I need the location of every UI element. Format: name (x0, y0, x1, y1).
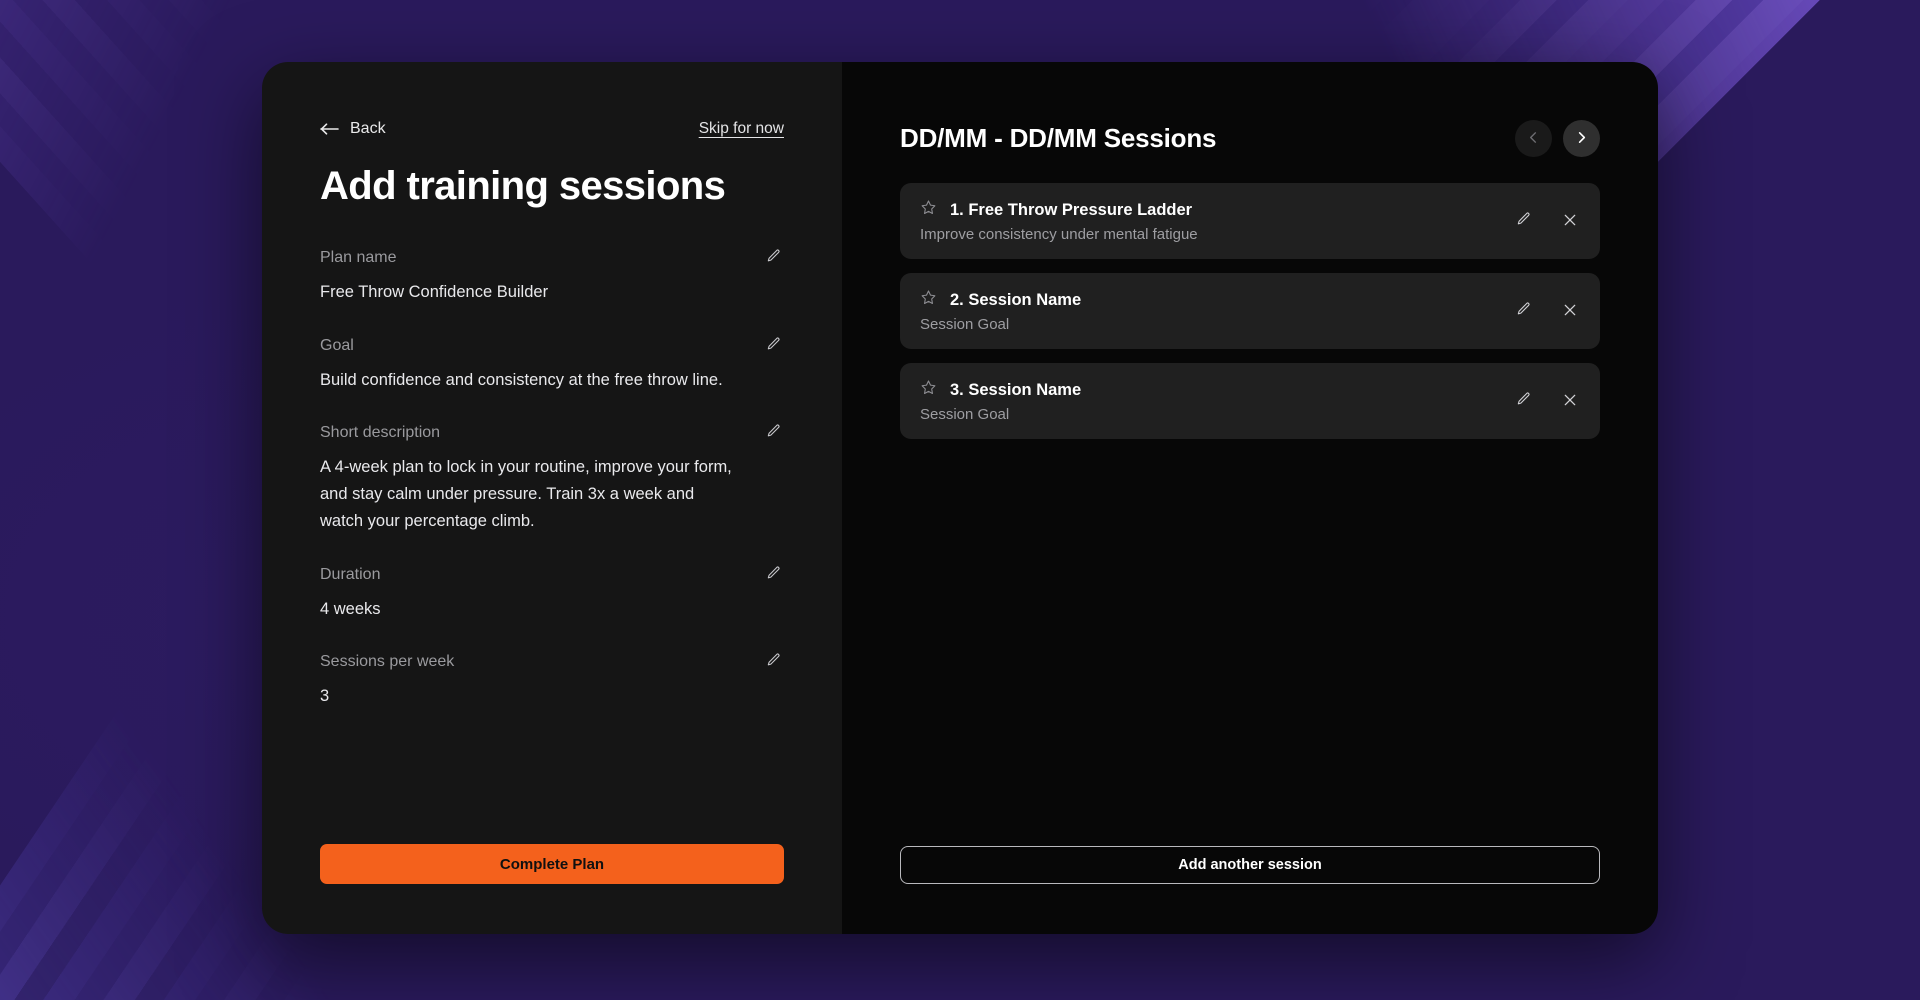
session-card-content: 3. Session Name Session Goal (920, 379, 1081, 423)
field-header: Goal (320, 334, 784, 358)
sessions-title: DD/MM - DD/MM Sessions (900, 123, 1216, 154)
close-icon (1562, 302, 1578, 321)
star-icon[interactable] (920, 199, 937, 221)
session-card-title: 1. Free Throw Pressure Ladder (950, 201, 1192, 220)
back-button[interactable]: Back (320, 120, 386, 138)
back-button-label: Back (350, 120, 386, 138)
sessions-footer: Add another session (900, 846, 1600, 934)
week-navigation (1515, 120, 1600, 157)
edit-short-description-button[interactable] (763, 421, 784, 445)
arrow-left-icon (320, 122, 340, 136)
field-label: Sessions per week (320, 653, 454, 671)
field-header: Duration (320, 563, 784, 587)
field-short-description: Short description A 4-week plan to lock … (320, 421, 784, 534)
pencil-icon (1515, 211, 1532, 231)
field-duration: Duration 4 weeks (320, 563, 784, 623)
field-header: Sessions per week (320, 650, 784, 674)
pencil-icon (765, 248, 782, 268)
pencil-icon (765, 652, 782, 672)
session-card-title-row: 3. Session Name (920, 379, 1081, 401)
plan-builder-modal: Back Skip for now Add training sessions … (262, 62, 1658, 934)
edit-session-button[interactable] (1513, 389, 1534, 413)
session-card-title-row: 2. Session Name (920, 289, 1081, 311)
pencil-icon (765, 336, 782, 356)
session-card-actions (1513, 209, 1580, 233)
pencil-icon (1515, 391, 1532, 411)
session-card-actions (1513, 389, 1580, 413)
remove-session-button[interactable] (1560, 300, 1580, 323)
sessions-panel: DD/MM - DD/MM Sessions (842, 62, 1658, 934)
remove-session-button[interactable] (1560, 390, 1580, 413)
field-value: 4 weeks (320, 596, 740, 623)
field-label: Plan name (320, 249, 397, 267)
star-icon[interactable] (920, 289, 937, 311)
field-label: Goal (320, 337, 354, 355)
page-title: Add training sessions (320, 164, 784, 208)
field-header: Short description (320, 421, 784, 445)
edit-duration-button[interactable] (763, 563, 784, 587)
sessions-header: DD/MM - DD/MM Sessions (900, 120, 1600, 157)
edit-sessions-per-week-button[interactable] (763, 650, 784, 674)
session-card-title: 2. Session Name (950, 291, 1081, 310)
session-card-actions (1513, 299, 1580, 323)
session-card-list: 1. Free Throw Pressure Ladder Improve co… (900, 183, 1600, 439)
plan-summary-panel: Back Skip for now Add training sessions … (262, 62, 842, 934)
field-sessions-per-week: Sessions per week 3 (320, 650, 784, 710)
left-panel-footer: Complete Plan (320, 844, 784, 934)
left-panel-header: Back Skip for now (320, 120, 784, 138)
field-plan-name: Plan name Free Throw Confidence Builder (320, 246, 784, 306)
field-value: Build confidence and consistency at the … (320, 367, 740, 394)
field-value: Free Throw Confidence Builder (320, 279, 740, 306)
session-card-goal: Improve consistency under mental fatigue (920, 226, 1198, 243)
edit-plan-name-button[interactable] (763, 246, 784, 270)
skip-for-now-link[interactable]: Skip for now (699, 120, 784, 138)
edit-session-button[interactable] (1513, 209, 1534, 233)
field-label: Duration (320, 566, 380, 584)
session-card[interactable]: 3. Session Name Session Goal (900, 363, 1600, 439)
session-card-content: 1. Free Throw Pressure Ladder Improve co… (920, 199, 1198, 243)
pencil-icon (1515, 301, 1532, 321)
field-value: 3 (320, 683, 740, 710)
next-week-button[interactable] (1563, 120, 1600, 157)
field-label: Short description (320, 424, 440, 442)
field-goal: Goal Build confidence and consistency at… (320, 334, 784, 394)
star-icon[interactable] (920, 379, 937, 401)
session-card-goal: Session Goal (920, 406, 1081, 423)
previous-week-button[interactable] (1515, 120, 1552, 157)
close-icon (1562, 212, 1578, 231)
session-card-goal: Session Goal (920, 316, 1081, 333)
complete-plan-button[interactable]: Complete Plan (320, 844, 784, 884)
plan-fields-list: Plan name Free Throw Confidence Builder … (320, 246, 784, 738)
add-another-session-button[interactable]: Add another session (900, 846, 1600, 884)
edit-session-button[interactable] (1513, 299, 1534, 323)
session-card-title: 3. Session Name (950, 381, 1081, 400)
session-card-title-row: 1. Free Throw Pressure Ladder (920, 199, 1198, 221)
edit-goal-button[interactable] (763, 334, 784, 358)
close-icon (1562, 392, 1578, 411)
chevron-right-icon (1574, 130, 1589, 148)
session-card[interactable]: 2. Session Name Session Goal (900, 273, 1600, 349)
session-card[interactable]: 1. Free Throw Pressure Ladder Improve co… (900, 183, 1600, 259)
pencil-icon (765, 423, 782, 443)
session-card-content: 2. Session Name Session Goal (920, 289, 1081, 333)
pencil-icon (765, 565, 782, 585)
field-value: A 4-week plan to lock in your routine, i… (320, 454, 740, 534)
remove-session-button[interactable] (1560, 210, 1580, 233)
field-header: Plan name (320, 246, 784, 270)
chevron-left-icon (1526, 130, 1541, 148)
